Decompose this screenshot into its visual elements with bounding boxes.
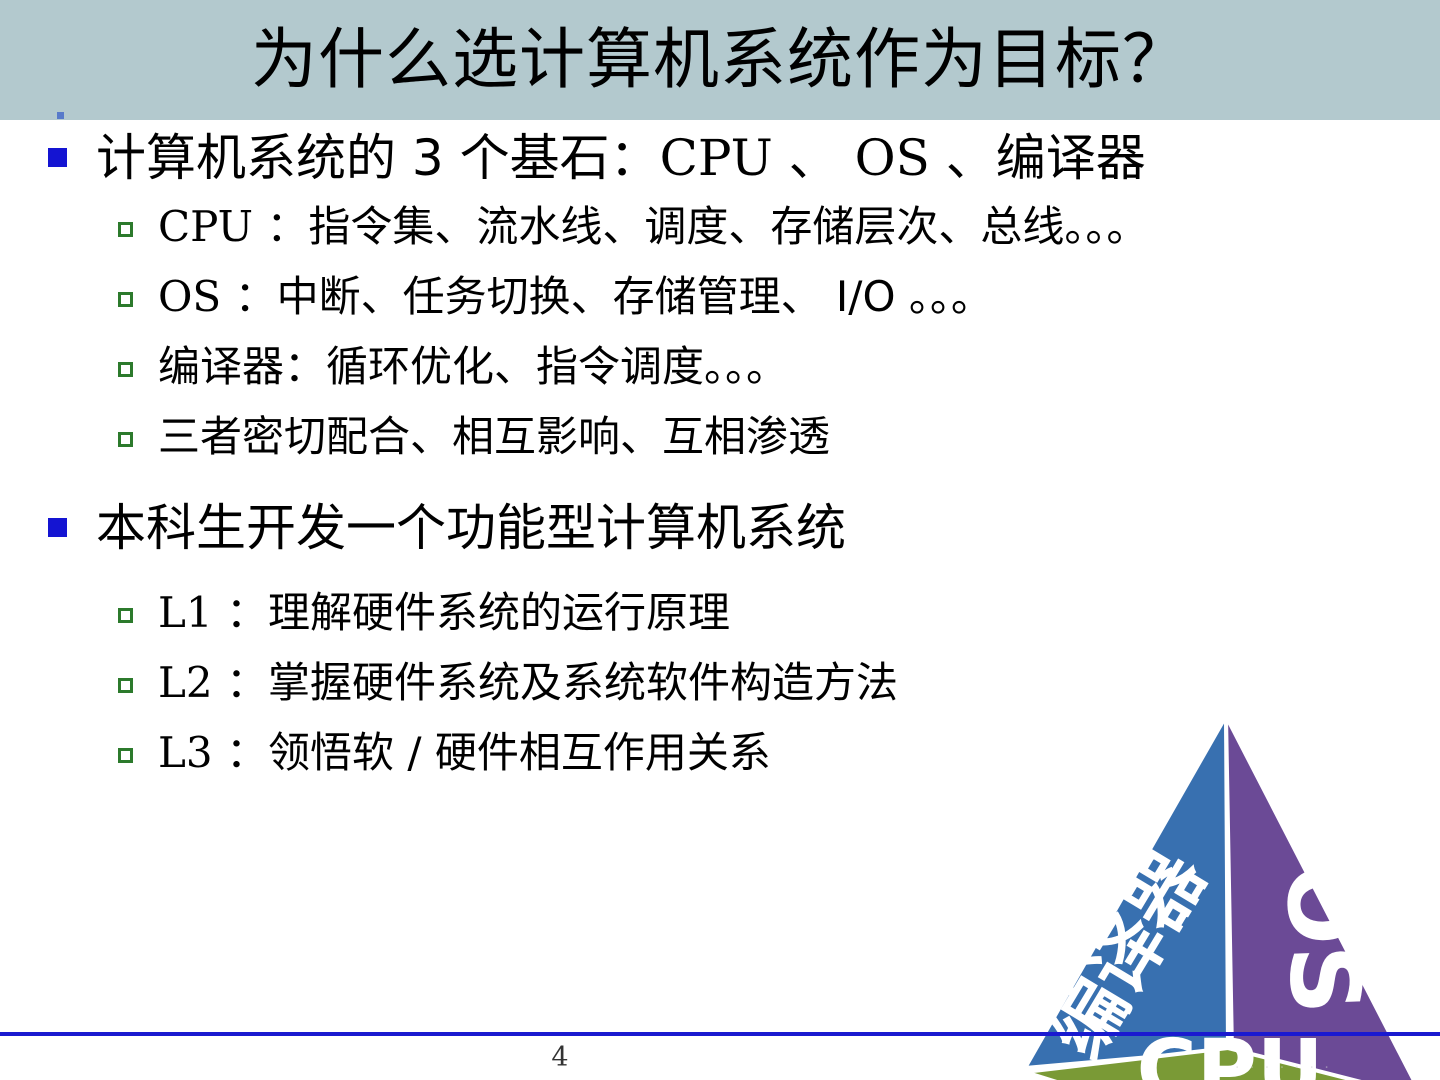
page-number: 4	[0, 1042, 1120, 1073]
hollow-square-bullet-icon	[118, 222, 133, 237]
hollow-square-bullet-icon	[118, 748, 133, 763]
bullet-text: L1 ：理解硬件系统的运行原理	[158, 586, 730, 640]
bullet-level2-cpu: CPU ：指令集、流水线、调度、存储层次、总线。。。	[0, 200, 1440, 254]
bullet-text: OS ：中断、任务切换、存储管理、 I/O 。。。	[158, 270, 993, 324]
bullet-level2-compiler: 编译器：循环优化、指令调度。。。	[0, 340, 1440, 394]
hollow-square-bullet-icon	[118, 292, 133, 307]
slide-content: 计算机系统的 3 个基石：CPU 、 OS 、编译器 CPU ：指令集、流水线、…	[0, 126, 1440, 796]
hollow-square-bullet-icon	[118, 432, 133, 447]
footer-divider	[0, 1032, 1440, 1036]
bullet-text: 三者密切配合、相互影响、互相渗透	[158, 410, 830, 464]
bullet-level1-undergrad-system: 本科生开发一个功能型计算机系统	[0, 496, 1440, 560]
bullet-level2-interaction: 三者密切配合、相互影响、互相渗透	[0, 410, 1440, 464]
bullet-level1-foundations: 计算机系统的 3 个基石：CPU 、 OS 、编译器	[0, 126, 1440, 190]
bullet-level2-l1: L1 ：理解硬件系统的运行原理	[0, 586, 1440, 640]
bullet-text: L2 ：掌握硬件系统及系统软件构造方法	[158, 656, 898, 710]
title-decoration-dot	[57, 112, 64, 119]
square-bullet-icon	[48, 518, 67, 537]
pyramid-right-face-label: OS	[1264, 862, 1381, 1017]
bullet-text: 计算机系统的 3 个基石：CPU 、 OS 、编译器	[96, 126, 1146, 190]
bullet-text: 本科生开发一个功能型计算机系统	[96, 496, 846, 560]
footer-watermark: · · · · · · ·	[1235, 1060, 1435, 1076]
page-title: 为什么选计算机系统作为目标？	[0, 8, 1440, 112]
hollow-square-bullet-icon	[118, 362, 133, 377]
bullet-level2-os: OS ：中断、任务切换、存储管理、 I/O 。。。	[0, 270, 1440, 324]
slide: 为什么选计算机系统作为目标？ 计算机系统的 3 个基石：CPU 、 OS 、编译…	[0, 0, 1440, 1080]
pyramid-diagram: 编译器 OS CPU	[1000, 700, 1440, 1080]
hollow-square-bullet-icon	[118, 608, 133, 623]
square-bullet-icon	[48, 148, 67, 167]
bullet-text: CPU ：指令集、流水线、调度、存储层次、总线。。。	[158, 200, 1148, 254]
bullet-text: 编译器：循环优化、指令调度。。。	[158, 340, 788, 394]
hollow-square-bullet-icon	[118, 678, 133, 693]
title-band: 为什么选计算机系统作为目标？	[0, 0, 1440, 120]
bullet-text: L3 ：领悟软 / 硬件相互作用关系	[158, 726, 771, 780]
